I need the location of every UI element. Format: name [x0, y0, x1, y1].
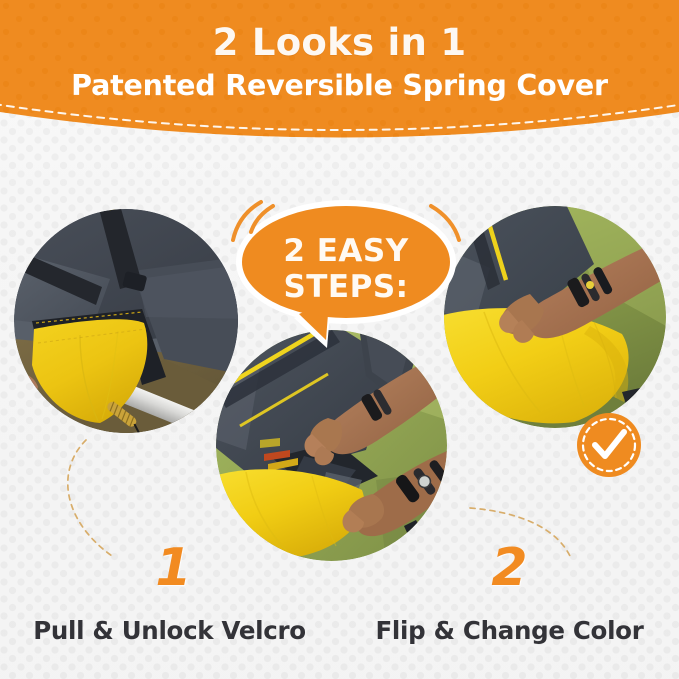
steps-row: 1 Pull & Unlock Velcro 2 Flip & Change C…: [0, 520, 679, 679]
step-label-2: Flip & Change Color: [376, 616, 644, 645]
step-item-1: 1 Pull & Unlock Velcro: [0, 520, 339, 679]
header-banner: 2 Looks in 1 Patented Reversible Spring …: [0, 0, 679, 160]
step-item-2: 2 Flip & Change Color: [340, 520, 679, 679]
photo-flip-color-art: [444, 206, 666, 428]
header-shape: [0, 0, 679, 160]
photo-flip-color: [444, 206, 666, 428]
step-number-2: 2: [491, 542, 527, 594]
check-badge: [576, 412, 642, 478]
photo-pull-velcro: [14, 209, 238, 433]
check-icon: [576, 412, 642, 478]
step-label-1: Pull & Unlock Velcro: [33, 616, 306, 645]
infographic-stage: 2 Looks in 1 Patented Reversible Spring …: [0, 0, 679, 679]
step-number-1: 1: [155, 542, 191, 594]
speech-bubble-shape: [231, 196, 461, 356]
speech-bubble: 2 EASY STEPS:: [231, 196, 461, 356]
photo-pull-velcro-art: [14, 209, 238, 433]
